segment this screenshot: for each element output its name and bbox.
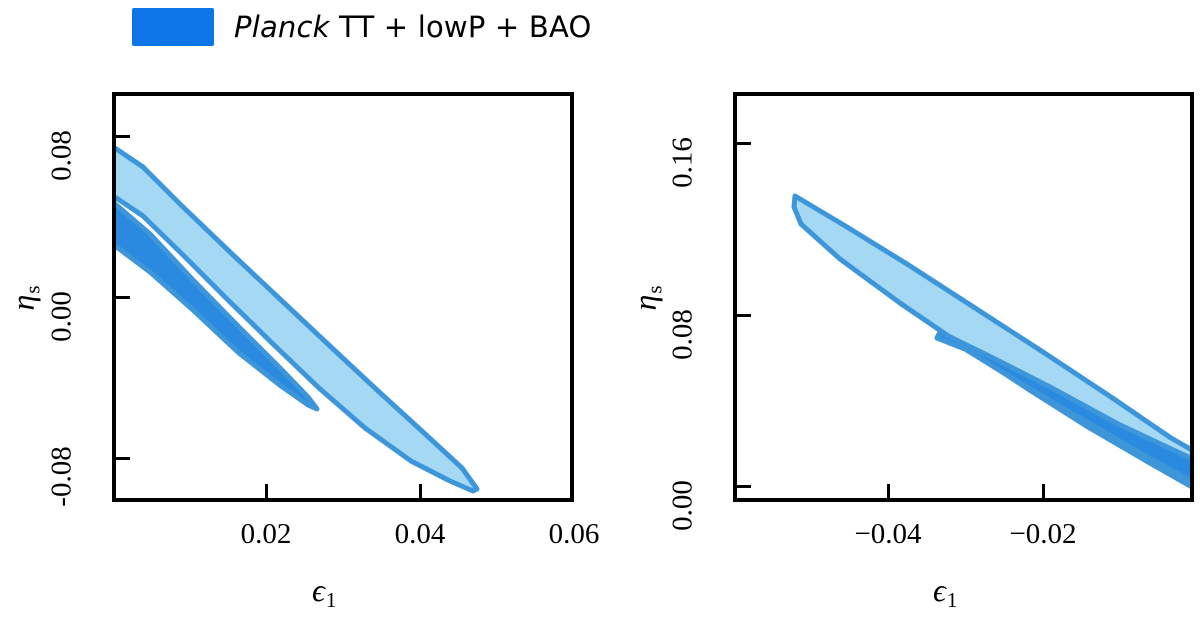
yticklabel-right-0: 0.00: [667, 466, 700, 546]
xaxis-title-left: ϵ1: [312, 572, 335, 609]
xtick-left-1: [419, 484, 422, 498]
xticklabel-right-0: −0.04: [854, 518, 921, 551]
yticklabel-left-0: -0.08: [46, 429, 79, 525]
yaxis-title-right-symbol: η: [627, 295, 663, 311]
xticklabel-left-1: 0.04: [395, 518, 446, 551]
ytick-right-0: [737, 485, 751, 488]
xticklabel-left-2: 0.06: [549, 518, 600, 551]
ytick-left-0: [116, 457, 130, 460]
contour-95-left: [116, 142, 477, 491]
xaxis-title-left-symbol: ϵ: [312, 572, 325, 608]
contour-plot-right: [737, 96, 1190, 498]
yticklabel-left-1: 0.00: [46, 277, 79, 357]
xticklabel-right-1: −0.02: [1009, 518, 1076, 551]
xtick-left-0: [265, 484, 268, 498]
legend-label-emphasis: Planck: [234, 10, 330, 44]
xaxis-title-right-symbol: ϵ: [933, 572, 946, 608]
contour-plot-left: [116, 96, 570, 498]
ytick-left-1: [116, 296, 130, 299]
yticklabel-left-2: 0.08: [46, 116, 79, 196]
legend-entry: Planck TT + lowP + BAO: [132, 8, 592, 46]
xtick-right-0: [887, 484, 890, 498]
ytick-right-1: [737, 314, 751, 317]
plot-area-right: [733, 92, 1194, 502]
yaxis-title-left: ηs: [5, 254, 42, 344]
legend: Planck TT + lowP + BAO: [0, 0, 1200, 54]
legend-label-rest: TT + lowP + BAO: [330, 10, 592, 44]
xtick-right-1: [1042, 484, 1045, 498]
xaxis-title-left-sub: 1: [326, 588, 337, 612]
yaxis-title-left-symbol: η: [5, 295, 41, 311]
plot-area-left: [112, 92, 574, 502]
legend-label: Planck TT + lowP + BAO: [234, 10, 592, 44]
contour-68-right: [937, 332, 1190, 485]
yticklabel-right-2: 0.16: [667, 123, 700, 203]
ytick-left-2: [116, 135, 130, 138]
ytick-right-2: [737, 142, 751, 145]
xticklabel-left-0: 0.02: [241, 518, 292, 551]
yticklabel-right-1: 0.08: [667, 295, 700, 375]
yaxis-title-left-sub: s: [21, 285, 45, 293]
xaxis-title-right-sub: 1: [947, 588, 958, 612]
legend-swatch-planck-tt-lowp-bao: [132, 8, 214, 46]
yaxis-title-right-sub: s: [643, 285, 667, 293]
yaxis-title-right: ηs: [627, 254, 664, 344]
xaxis-title-right: ϵ1: [933, 572, 956, 609]
